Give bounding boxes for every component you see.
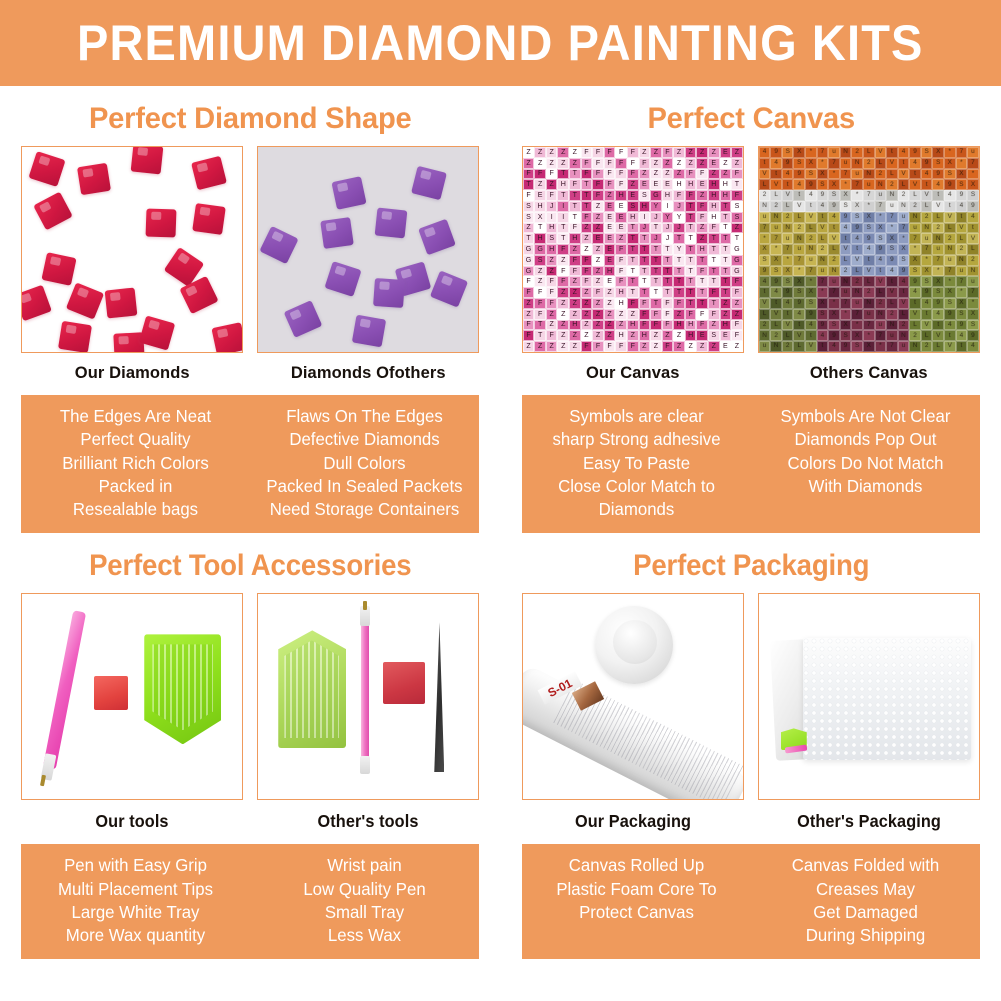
canvas-symbol-cell: T	[708, 298, 720, 309]
canvas-symbol-cell: u	[886, 201, 898, 212]
canvas-symbol-cell: S	[840, 330, 852, 341]
canvas-symbol-cell: V	[875, 276, 887, 287]
canvas-symbol-cell: J	[673, 201, 685, 212]
canvas-symbol-cell: 9	[793, 298, 805, 309]
canvas-symbol-cell: X	[967, 179, 979, 190]
canvas-symbol-cell: S	[932, 158, 944, 169]
canvas-symbol-cell: T	[720, 233, 732, 244]
canvas-symbol-cell: 4	[863, 244, 875, 255]
canvas-symbol-cell: 4	[898, 147, 910, 158]
canvas-symbol-cell: 7	[828, 158, 840, 169]
canvas-symbol-cell: F	[696, 201, 708, 212]
canvas-symbol-cell: Z	[546, 179, 558, 190]
canvas-symbol-cell: X	[944, 287, 956, 298]
canvas-symbol-cell: 4	[828, 341, 840, 352]
canvas-symbol-cell: 9	[840, 341, 852, 352]
photo-other-diamonds	[257, 146, 479, 353]
canvas-symbol-cell: F	[523, 276, 535, 287]
canvas-symbol-cell: Z	[673, 330, 685, 341]
canvas-symbol-cell: H	[534, 233, 546, 244]
canvas-symbol-cell: L	[944, 223, 956, 234]
canvas-symbol-cell: V	[909, 179, 921, 190]
canvas-symbol-cell: V	[967, 233, 979, 244]
canvas-symbol-cell: S	[956, 309, 968, 320]
canvas-symbol-cell: T	[731, 179, 743, 190]
canvas-symbol-cell: L	[863, 147, 875, 158]
canvas-symbol-cell: V	[932, 201, 944, 212]
canvas-symbol-cell: Z	[557, 298, 569, 309]
canvas-symbol-cell: T	[569, 212, 581, 223]
canvas-symbol-cell: V	[793, 330, 805, 341]
canvas-symbol-cell: 2	[759, 190, 771, 201]
canvas-symbol-cell: T	[685, 287, 697, 298]
canvas-symbol-cell: 2	[793, 223, 805, 234]
canvas-symbol-cell: X	[793, 276, 805, 287]
callout-line: More Wax quantity	[30, 924, 242, 947]
canvas-symbol-cell: 4	[944, 320, 956, 331]
callout-line: Dull Colors	[259, 452, 471, 475]
callout-line: Resealable bags	[30, 498, 242, 521]
canvas-symbol-cell: F	[569, 223, 581, 234]
canvas-symbol-cell: 7	[967, 158, 979, 169]
canvas-symbol-cell: 4	[770, 158, 782, 169]
canvas-symbol-cell: F	[592, 190, 604, 201]
canvas-symbol-cell: N	[863, 169, 875, 180]
canvas-symbol-cell: u	[875, 190, 887, 201]
canvas-symbol-cell: F	[615, 244, 627, 255]
canvas-symbol-cell: S	[731, 212, 743, 223]
canvas-symbol-cell: Z	[523, 309, 535, 320]
canvas-symbol-cell: 9	[921, 287, 933, 298]
canvas-symbol-cell: 9	[956, 190, 968, 201]
canvas-symbol-cell: V	[851, 255, 863, 266]
canvas-symbol-cell: T	[673, 266, 685, 277]
canvas-symbol-cell: F	[581, 169, 593, 180]
canvas-symbol-cell: Z	[685, 341, 697, 352]
canvas-symbol-cell: G	[650, 190, 662, 201]
cell-others-canvas: 49SX*7uN2LVt49SX*7ut49SX*7uN2LVt49SX*7Vt…	[758, 146, 980, 383]
canvas-symbol-cell: N	[956, 255, 968, 266]
canvas-symbol-cell: L	[782, 330, 794, 341]
canvas-symbol-cell: F	[546, 330, 558, 341]
canvas-symbol-cell: F	[615, 255, 627, 266]
our-packaging-illustration: S-01	[523, 594, 743, 799]
canvas-symbol-cell: T	[581, 190, 593, 201]
other-packaging-illustration	[759, 594, 979, 799]
canvas-symbol-cell: *	[759, 233, 771, 244]
canvas-symbol-cell: *	[967, 298, 979, 309]
canvas-symbol-cell: Z	[557, 147, 569, 158]
callout-line: Get Damaged	[759, 901, 971, 924]
section-title-packaging: Perfect Packaging	[521, 549, 981, 583]
canvas-symbol-cell: H	[720, 320, 732, 331]
canvas-symbol-cell: 7	[932, 255, 944, 266]
canvas-symbol-cell: F	[523, 190, 535, 201]
canvas-symbol-cell: Z	[569, 244, 581, 255]
canvas-symbol-cell: Z	[731, 147, 743, 158]
canvas-symbol-cell: 9	[967, 330, 979, 341]
canvas-symbol-cell: N	[863, 298, 875, 309]
canvas-symbol-cell: *	[967, 169, 979, 180]
canvas-symbol-cell: Z	[557, 287, 569, 298]
canvas-symbol-cell: u	[793, 244, 805, 255]
canvas-symbol-cell: N	[770, 212, 782, 223]
canvas-symbol-cell: S	[627, 201, 639, 212]
canvas-symbol-cell: T	[685, 223, 697, 234]
photo-other-tools	[257, 593, 479, 800]
canvas-symbol-cell: 2	[967, 255, 979, 266]
canvas-symbol-cell: 7	[898, 223, 910, 234]
canvas-symbol-cell: T	[720, 223, 732, 234]
canvas-symbol-cell: F	[592, 341, 604, 352]
canvas-symbol-cell: T	[569, 169, 581, 180]
canvas-symbol-cell: Z	[534, 158, 546, 169]
canvas-symbol-cell: 2	[828, 255, 840, 266]
canvas-symbol-cell: Z	[720, 169, 732, 180]
canvas-symbol-cell: S	[793, 158, 805, 169]
canvas-symbol-cell: Z	[592, 298, 604, 309]
canvas-symbol-cell: H	[534, 201, 546, 212]
canvas-symbol-cell: t	[863, 255, 875, 266]
canvas-symbol-cell: 2	[817, 244, 829, 255]
canvas-symbol-cell: H	[557, 179, 569, 190]
canvas-symbol-cell: H	[604, 266, 616, 277]
tube-cap-core	[613, 620, 657, 664]
canvas-symbol-cell: T	[673, 255, 685, 266]
canvas-symbol-cell: H	[685, 179, 697, 190]
canvas-symbol-cell: u	[886, 330, 898, 341]
canvas-symbol-cell: t	[898, 158, 910, 169]
canvas-symbol-cell: T	[720, 212, 732, 223]
canvas-symbol-cell: Z	[604, 190, 616, 201]
canvas-symbol-cell: t	[921, 309, 933, 320]
canvas-symbol-cell: 9	[932, 298, 944, 309]
canvas-symbol-cell: E	[604, 233, 616, 244]
canvas-symbol-cell: F	[615, 158, 627, 169]
canvas-symbol-cell: F	[581, 276, 593, 287]
canvas-symbol-cell: Z	[546, 158, 558, 169]
cell-other-packaging: Other's Packaging	[758, 593, 980, 832]
canvas-symbol-cell: G	[731, 266, 743, 277]
canvas-symbol-cell: F	[731, 190, 743, 201]
canvas-symbol-cell: T	[523, 233, 535, 244]
canvas-symbol-cell: 7	[770, 233, 782, 244]
canvas-symbol-cell: V	[886, 287, 898, 298]
canvas-symbol-cell: 2	[921, 212, 933, 223]
canvas-symbol-cell: F	[534, 287, 546, 298]
canvas-symbol-cell: E	[650, 179, 662, 190]
canvas-symbol-cell: T	[662, 255, 674, 266]
canvas-symbol-cell: 2	[909, 201, 921, 212]
canvas-symbol-cell: T	[523, 179, 535, 190]
canvas-symbol-cell: 7	[967, 287, 979, 298]
callout-line: Multi Placement Tips	[30, 878, 242, 901]
canvas-symbol-cell: Z	[639, 169, 651, 180]
canvas-symbol-cell: Z	[592, 309, 604, 320]
canvas-symbol-cell: T	[581, 201, 593, 212]
canvas-symbol-cell: T	[639, 276, 651, 287]
canvas-symbol-cell: Z	[546, 341, 558, 352]
canvas-symbol-cell: F	[581, 212, 593, 223]
canvas-symbol-cell: Z	[592, 330, 604, 341]
canvas-symbol-cell: Z	[581, 320, 593, 331]
canvas-symbol-cell: S	[898, 255, 910, 266]
callout-line: During Shipping	[759, 924, 971, 947]
canvas-symbol-cell: X	[828, 179, 840, 190]
section-title-canvas: Perfect Canvas	[508, 102, 993, 136]
canvas-symbol-cell: X	[534, 212, 546, 223]
canvas-symbol-cell: F	[546, 287, 558, 298]
callout-ours-tools: Pen with Easy GripMulti Placement TipsLa…	[26, 854, 246, 947]
canvas-symbol-cell: *	[840, 179, 852, 190]
canvas-symbol-cell: V	[944, 341, 956, 352]
canvas-symbol-cell: S	[909, 266, 921, 277]
canvas-symbol-cell: 9	[793, 169, 805, 180]
canvas-symbol-cell: H	[615, 330, 627, 341]
canvas-symbol-cell: X	[956, 169, 968, 180]
canvas-symbol-cell: T	[685, 298, 697, 309]
canvas-symbol-cell: X	[956, 298, 968, 309]
canvas-symbol-cell: Z	[523, 341, 535, 352]
canvas-symbol-cell: F	[627, 341, 639, 352]
canvas-symbol-cell: 4	[817, 201, 829, 212]
canvas-symbol-cell: T	[696, 276, 708, 287]
canvas-symbol-cell: t	[782, 309, 794, 320]
canvas-symbol-cell: 4	[793, 309, 805, 320]
canvas-symbol-cell: F	[731, 287, 743, 298]
canvas-symbol-cell: E	[720, 330, 732, 341]
canvas-symbol-cell: F	[546, 276, 558, 287]
canvas-symbol-cell: T	[662, 266, 674, 277]
canvas-symbol-cell: Z	[557, 309, 569, 320]
canvas-symbol-cell: F	[592, 169, 604, 180]
canvas-symbol-cell: 7	[817, 276, 829, 287]
canvas-symbol-cell: 7	[782, 244, 794, 255]
canvas-symbol-cell: F	[604, 341, 616, 352]
canvas-symbol-cell: *	[921, 255, 933, 266]
canvas-symbol-cell: T	[696, 287, 708, 298]
canvas-symbol-cell: Z	[731, 298, 743, 309]
canvas-symbol-cell: Z	[731, 223, 743, 234]
canvas-symbol-cell: N	[898, 330, 910, 341]
canvas-symbol-cell: F	[731, 169, 743, 180]
canvas-symbol-cell: 2	[840, 266, 852, 277]
canvas-symbol-cell: *	[956, 287, 968, 298]
pen-grip-other	[360, 756, 370, 774]
canvas-symbol-cell: X	[932, 276, 944, 287]
canvas-symbol-cell: S	[828, 320, 840, 331]
canvas-symbol-cell: I	[557, 201, 569, 212]
canvas-symbol-cell: L	[932, 212, 944, 223]
canvas-symbol-cell: 9	[782, 287, 794, 298]
canvas-symbol-cell: F	[615, 266, 627, 277]
canvas-symbol-cell: F	[696, 266, 708, 277]
canvas-symbol-cell: L	[898, 179, 910, 190]
photo-our-tools	[21, 593, 243, 800]
canvas-symbol-cell: Z	[569, 147, 581, 158]
callout-line: Plastic Foam Core To	[530, 878, 742, 901]
canvas-symbol-cell: T	[581, 179, 593, 190]
canvas-symbol-cell: T	[685, 266, 697, 277]
canvas-symbol-cell: V	[759, 298, 771, 309]
canvas-symbol-cell: 9	[944, 179, 956, 190]
callout-ours-diamond-shape: The Edges Are NeatPerfect QualityBrillia…	[26, 405, 246, 521]
canvas-symbol-cell: H	[639, 201, 651, 212]
canvas-symbol-cell: 2	[805, 233, 817, 244]
canvas-symbol-cell: F	[581, 147, 593, 158]
canvas-symbol-cell: 2	[759, 320, 771, 331]
canvas-symbol-cell: 9	[759, 266, 771, 277]
canvas-symbol-cell: Z	[615, 309, 627, 320]
canvas-symbol-cell: L	[875, 158, 887, 169]
caption-other-packaging: Other's Packaging	[766, 811, 972, 832]
canvas-symbol-cell: Z	[650, 158, 662, 169]
photo-pair-canvas: ZZZZZFFFFFZZFZZZZEZZZZZZFFFFFFZZZZZEZZFF…	[501, 146, 1001, 383]
canvas-symbol-cell: F	[581, 341, 593, 352]
canvas-symbol-cell: 2	[886, 179, 898, 190]
canvas-symbol-cell: Z	[546, 255, 558, 266]
callout-line: Creases May	[759, 878, 971, 901]
callout-line: Diamonds	[530, 498, 742, 521]
canvas-symbol-cell: E	[639, 179, 651, 190]
canvas-symbol-cell: N	[759, 330, 771, 341]
canvas-symbol-cell: u	[967, 276, 979, 287]
canvas-symbol-cell: *	[793, 266, 805, 277]
canvas-symbol-cell: t	[817, 341, 829, 352]
canvas-symbol-cell: Z	[650, 341, 662, 352]
canvas-symbol-cell: L	[909, 190, 921, 201]
canvas-symbol-cell: Z	[557, 330, 569, 341]
canvas-symbol-cell: 4	[805, 320, 817, 331]
canvas-symbol-cell: I	[557, 212, 569, 223]
canvas-symbol-cell: T	[639, 233, 651, 244]
callout-line: The Edges Are Neat	[30, 405, 242, 428]
canvas-symbol-cell: 9	[909, 276, 921, 287]
canvas-symbol-cell: 4	[967, 212, 979, 223]
canvas-symbol-cell: Z	[650, 330, 662, 341]
canvas-symbol-cell: 4	[898, 276, 910, 287]
canvas-symbol-cell: Z	[557, 158, 569, 169]
canvas-symbol-cell: L	[909, 320, 921, 331]
cell-our-diamonds: Our Diamonds	[21, 146, 243, 383]
canvas-symbol-cell: F	[546, 298, 558, 309]
canvas-symbol-cell: H	[708, 201, 720, 212]
canvas-symbol-cell: 9	[828, 330, 840, 341]
pen-metal-tip	[40, 775, 46, 787]
canvas-symbol-cell: X	[805, 158, 817, 169]
canvas-symbol-cell: X	[921, 266, 933, 277]
callout-line: Canvas Rolled Up	[530, 854, 742, 877]
canvas-symbol-cell: 4	[828, 212, 840, 223]
tray-grooves-other	[284, 640, 339, 738]
canvas-symbol-cell: L	[793, 341, 805, 352]
canvas-symbol-cell: I	[639, 212, 651, 223]
canvas-symbol-cell: 9	[956, 320, 968, 331]
canvas-symbol-cell: *	[851, 320, 863, 331]
canvas-symbol-cell: N	[886, 190, 898, 201]
canvas-symbol-cell: Z	[685, 158, 697, 169]
canvas-symbol-cell: L	[898, 309, 910, 320]
canvas-symbol-cell: F	[581, 158, 593, 169]
canvas-symbol-cell: 7	[886, 341, 898, 352]
canvas-symbol-cell: H	[615, 287, 627, 298]
caption-our-diamonds: Our Diamonds	[21, 364, 243, 383]
canvas-symbol-cell: T	[662, 287, 674, 298]
canvas-symbol-cell: t	[967, 223, 979, 234]
canvas-symbol-cell: Z	[615, 320, 627, 331]
caption-our-packaging: Our Packaging	[530, 811, 736, 832]
callout-line: Need Storage Containers	[259, 498, 471, 521]
callout-others-tools: Wrist painLow Quality PenSmall TrayLess …	[255, 854, 475, 947]
canvas-symbol-cell: t	[770, 169, 782, 180]
canvas-symbol-cell: 9	[817, 320, 829, 331]
canvas-symbol-cell: L	[886, 169, 898, 180]
canvas-symbol-cell: 4	[886, 266, 898, 277]
canvas-symbol-cell: 9	[932, 169, 944, 180]
canvas-symbol-cell: S	[863, 223, 875, 234]
canvas-symbol-cell: J	[546, 201, 558, 212]
canvas-symbol-cell: 2	[898, 320, 910, 331]
canvas-symbol-cell: V	[875, 147, 887, 158]
canvas-symbol-cell: X	[793, 147, 805, 158]
wax-square	[94, 676, 128, 710]
canvas-symbol-cell: 7	[886, 212, 898, 223]
canvas-symbol-cell: t	[828, 223, 840, 234]
canvas-symbol-cell: u	[898, 341, 910, 352]
canvas-symbol-cell: 4	[793, 179, 805, 190]
canvas-symbol-cell: S	[886, 244, 898, 255]
canvas-symbol-cell: u	[828, 276, 840, 287]
canvas-symbol-cell: F	[615, 341, 627, 352]
canvas-symbol-cell: 7	[956, 276, 968, 287]
canvas-symbol-cell: H	[708, 179, 720, 190]
canvas-symbol-cell: u	[828, 147, 840, 158]
canvas-symbol-cell: F	[627, 169, 639, 180]
canvas-symbol-cell: Z	[720, 298, 732, 309]
canvas-symbol-cell: F	[662, 320, 674, 331]
section-title-tools: Perfect Tool Accessories	[20, 549, 480, 583]
canvas-symbol-cell: 2	[782, 341, 794, 352]
canvas-symbol-cell: *	[886, 223, 898, 234]
canvas-symbol-cell: L	[770, 190, 782, 201]
canvas-symbol-cell: S	[956, 179, 968, 190]
canvas-symbol-cell: 9	[805, 179, 817, 190]
canvas-symbol-cell: F	[662, 341, 674, 352]
cell-other-diamonds: Diamonds Ofothers	[257, 146, 479, 383]
canvas-symbol-cell: 7	[851, 309, 863, 320]
canvas-symbol-cell: T	[650, 287, 662, 298]
canvas-symbol-cell: *	[875, 341, 887, 352]
cell-our-packaging: S-01 Our Packaging	[522, 593, 744, 832]
canvas-symbol-cell: Z	[685, 147, 697, 158]
canvas-symbol-cell: H	[685, 330, 697, 341]
callout-line: Flaws On The Edges	[259, 405, 471, 428]
canvas-symbol-cell: t	[944, 330, 956, 341]
canvas-symbol-cell: 2	[944, 233, 956, 244]
callout-bar-canvas: Symbols are clearsharp Strong adhesiveEa…	[522, 395, 980, 533]
canvas-symbol-cell: *	[828, 169, 840, 180]
canvas-symbol-cell: u	[851, 298, 863, 309]
callout-line: Packed in	[30, 475, 242, 498]
canvas-symbol-cell: F	[627, 298, 639, 309]
canvas-symbol-cell: T	[557, 233, 569, 244]
canvas-symbol-cell: X	[863, 212, 875, 223]
canvas-symbol-cell: H	[708, 212, 720, 223]
callout-line: Less Wax	[259, 924, 471, 947]
caption-our-canvas: Our Canvas	[522, 364, 744, 383]
canvas-symbol-cell: N	[782, 223, 794, 234]
canvas-symbol-cell: Z	[546, 266, 558, 277]
